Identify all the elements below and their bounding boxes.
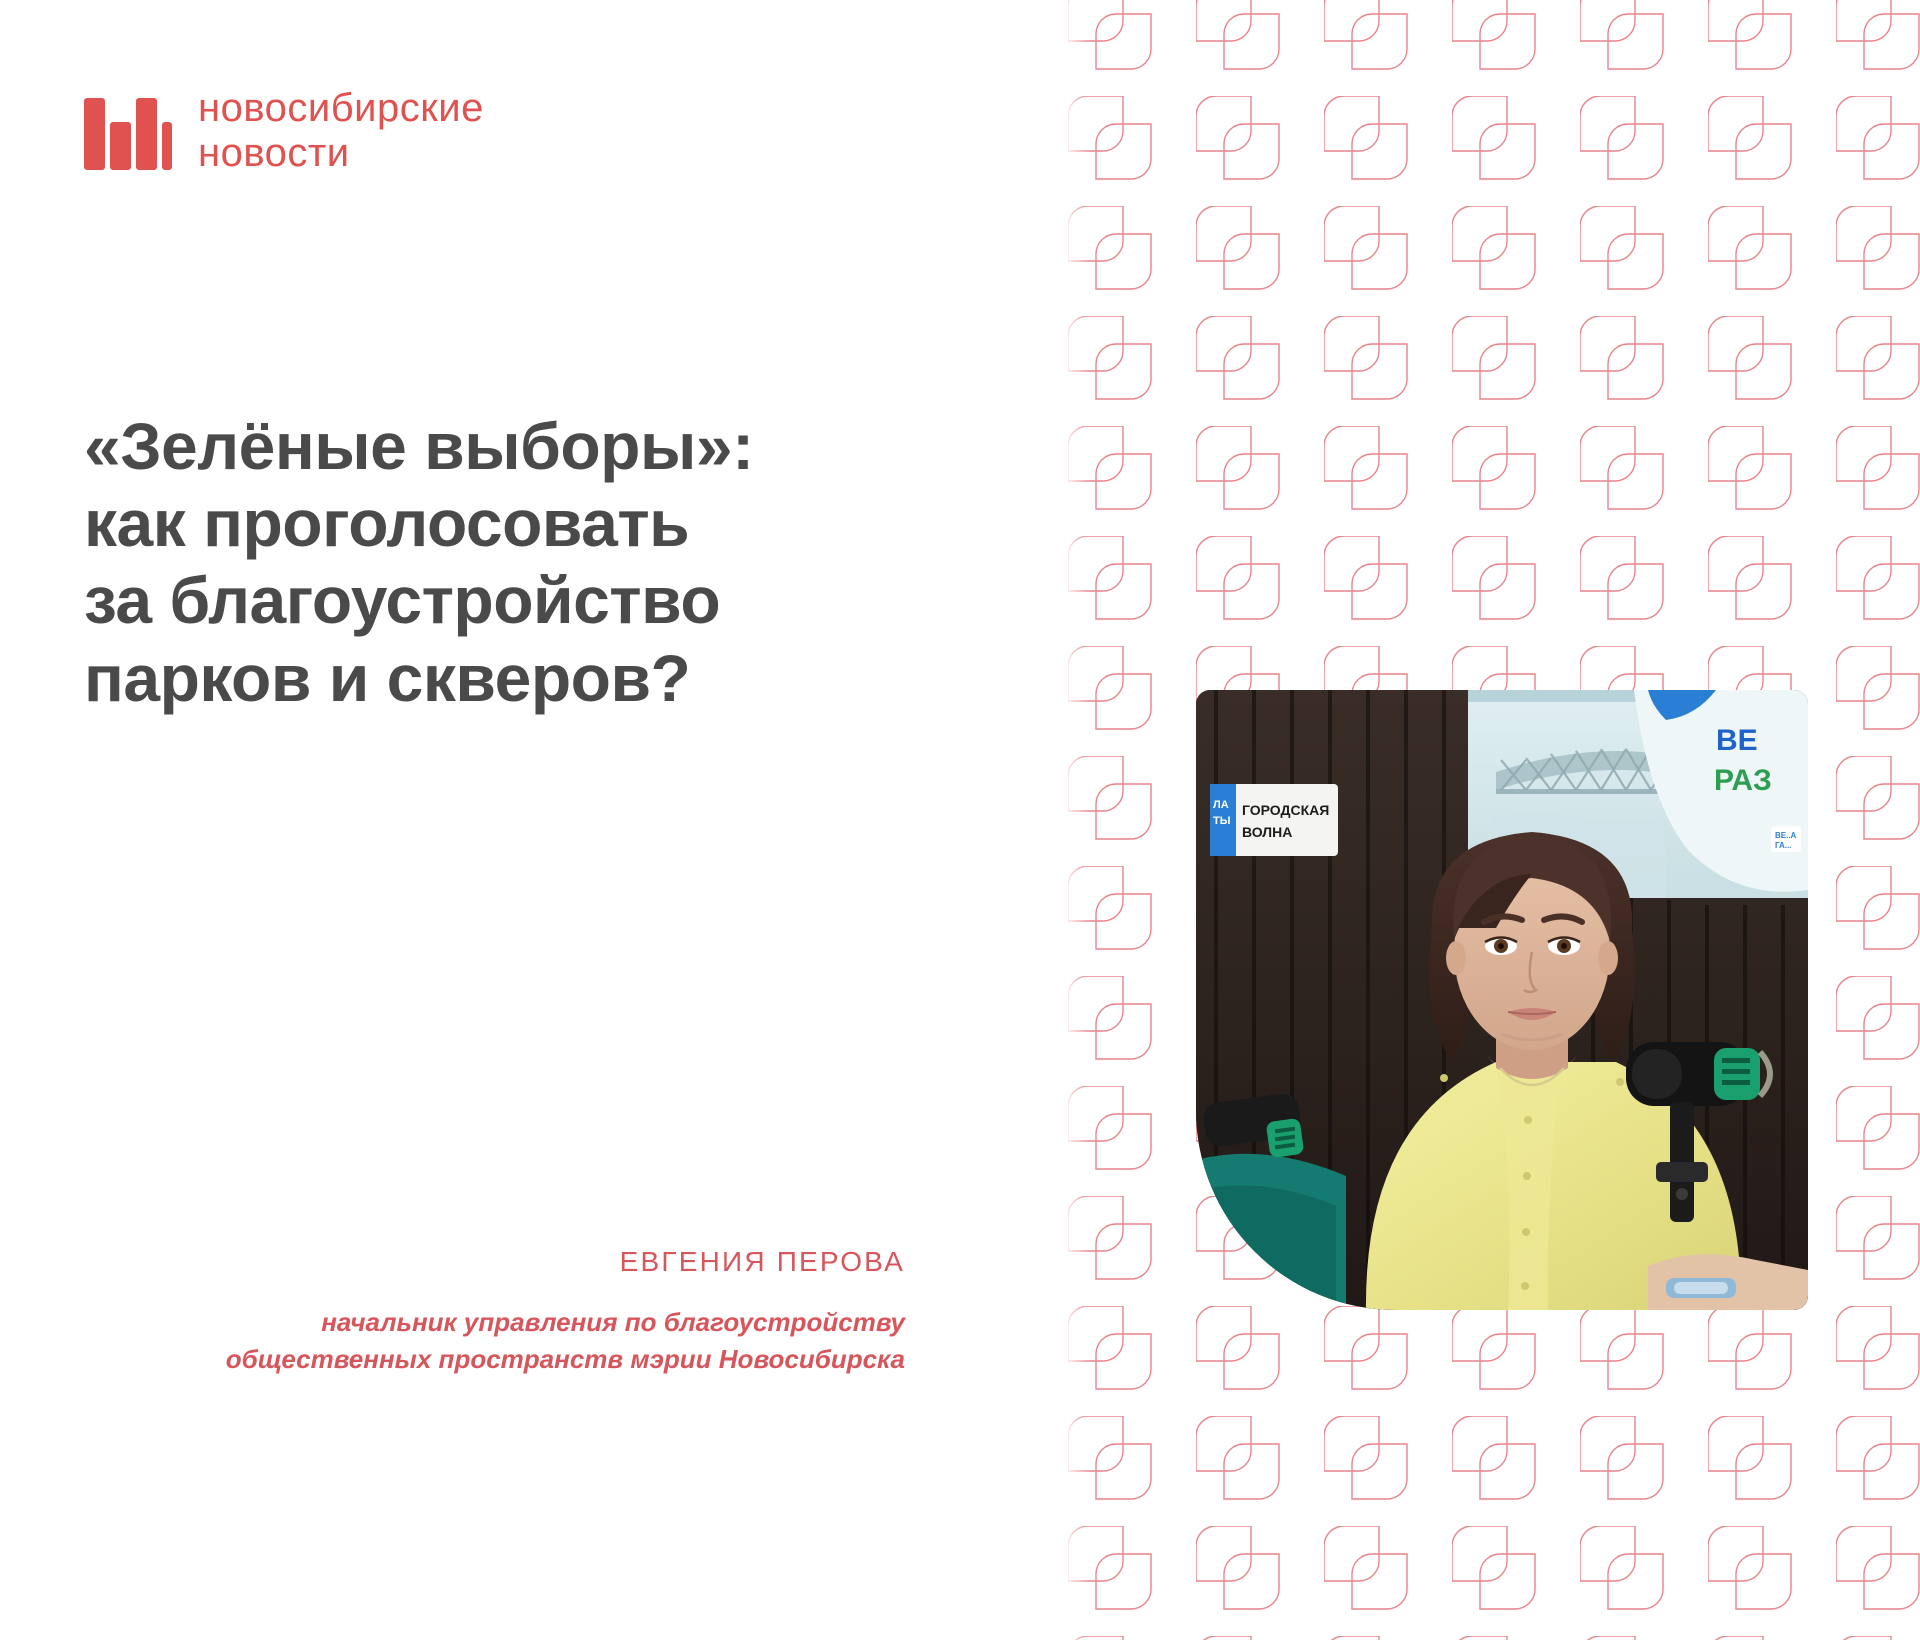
svg-text:ЛА: ЛА — [1213, 799, 1229, 811]
pattern-left-fade — [1050, 0, 1090, 1640]
speaker-portrait: ВЕ РАЗ ВЕ..А ГА... ЛА ТЫ ГОРОДСКАЯ ВОЛНА — [1196, 690, 1808, 1310]
site-logo[interactable]: новосибирские новости — [84, 80, 484, 176]
page-title: «Зелёные выборы»: как проголосовать за б… — [84, 408, 1084, 717]
speaker-role-line-2: общественных пространств мэрии Новосибир… — [0, 1341, 905, 1378]
logo-word-line-1: новосибирские — [198, 86, 484, 131]
headline-line-4: парков и скверов? — [84, 640, 1084, 717]
studio-sign-line-2: ВОЛНА — [1242, 824, 1292, 840]
bars-logo-icon — [84, 80, 172, 175]
speaker-name: ЕВГЕНИЯ ПЕРОВА — [0, 1246, 905, 1278]
speaker-role: начальник управления по благоустройству … — [0, 1304, 905, 1378]
screen-text-line-1: ВЕ — [1716, 724, 1758, 757]
poster-canvas: новосибирские новости «Зелёные выборы»: … — [0, 0, 1920, 1640]
svg-text:ТЫ: ТЫ — [1213, 815, 1231, 827]
speaker-attribution: ЕВГЕНИЯ ПЕРОВА начальник управления по б… — [0, 1246, 905, 1378]
studio-sign-line-1: ГОРОДСКАЯ — [1242, 802, 1329, 818]
screen-text-line-2: РАЗ — [1714, 764, 1772, 797]
headline-line-2: как проголосовать — [84, 485, 1084, 562]
headline-line-1: «Зелёные выборы»: — [84, 408, 1084, 485]
svg-text:ГА...: ГА... — [1775, 841, 1791, 850]
logo-wordmark: новосибирские новости — [198, 86, 484, 176]
svg-text:ВЕ..А: ВЕ..А — [1775, 831, 1797, 840]
headline-line-3: за благоустройство — [84, 562, 1084, 639]
speaker-role-line-1: начальник управления по благоустройству — [0, 1304, 905, 1341]
logo-word-line-2: новости — [198, 131, 484, 176]
